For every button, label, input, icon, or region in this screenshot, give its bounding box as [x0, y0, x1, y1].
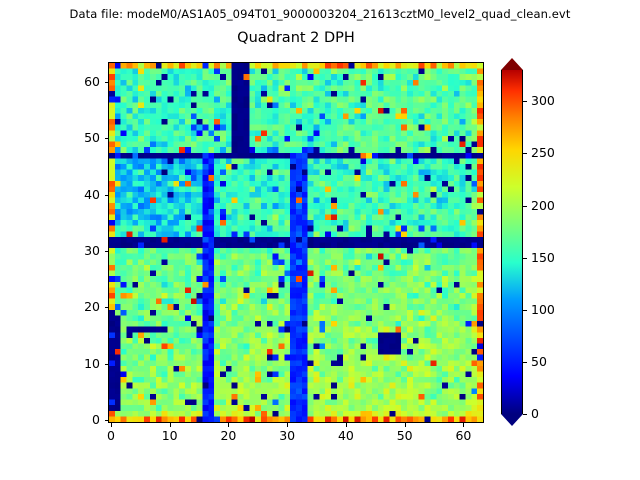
x-tick-label: 10 [150, 428, 190, 443]
colorbar-over-arrow-icon [501, 58, 523, 70]
x-tick-label: 40 [326, 428, 366, 443]
colorbar-tick-mark [523, 153, 527, 154]
colorbar-tick-mark [523, 310, 527, 311]
y-tick-mark [105, 420, 109, 421]
colorbar[interactable] [501, 58, 523, 426]
colorbar-tick-label: 200 [531, 198, 555, 213]
x-tick-mark [228, 423, 229, 427]
colorbar-tick-label: 150 [531, 250, 555, 265]
x-tick-mark [287, 423, 288, 427]
x-tick-label: 60 [443, 428, 483, 443]
x-tick-mark [111, 423, 112, 427]
colorbar-gradient[interactable] [501, 70, 523, 414]
x-tick-label: 50 [385, 428, 425, 443]
y-tick-mark [105, 82, 109, 83]
colorbar-under-arrow-icon [501, 414, 523, 426]
y-tick-mark [105, 251, 109, 252]
colorbar-tick-label: 100 [531, 302, 555, 317]
x-tick-mark [170, 423, 171, 427]
heatmap-axes[interactable] [108, 62, 484, 423]
plot-title: Quadrant 2 DPH [108, 30, 484, 46]
x-tick-mark [463, 423, 464, 427]
y-tick-label: 60 [58, 74, 100, 89]
colorbar-tick-label: 50 [531, 354, 547, 369]
colorbar-tick-mark [523, 206, 527, 207]
dph-heatmap-image[interactable] [109, 63, 483, 422]
colorbar-tick-mark [523, 258, 527, 259]
x-tick-label: 0 [91, 428, 131, 443]
y-tick-mark [105, 138, 109, 139]
y-tick-mark [105, 195, 109, 196]
matplotlib-figure: Data file: modeM0/AS1A05_094T01_90000032… [0, 0, 640, 480]
colorbar-tick-mark [523, 362, 527, 363]
x-tick-mark [346, 423, 347, 427]
x-tick-label: 20 [208, 428, 248, 443]
x-tick-label: 30 [267, 428, 307, 443]
y-tick-label: 10 [58, 356, 100, 371]
y-tick-label: 0 [58, 412, 100, 427]
y-tick-mark [105, 307, 109, 308]
y-tick-label: 30 [58, 243, 100, 258]
y-tick-label: 40 [58, 187, 100, 202]
y-tick-label: 20 [58, 299, 100, 314]
colorbar-tick-mark [523, 101, 527, 102]
colorbar-tick-label: 0 [531, 406, 539, 421]
y-tick-label: 50 [58, 130, 100, 145]
data-file-label: Data file: modeM0/AS1A05_094T01_90000032… [0, 7, 640, 21]
x-tick-mark [405, 423, 406, 427]
colorbar-tick-mark [523, 414, 527, 415]
colorbar-tick-label: 250 [531, 145, 555, 160]
y-tick-mark [105, 364, 109, 365]
colorbar-tick-label: 300 [531, 93, 555, 108]
